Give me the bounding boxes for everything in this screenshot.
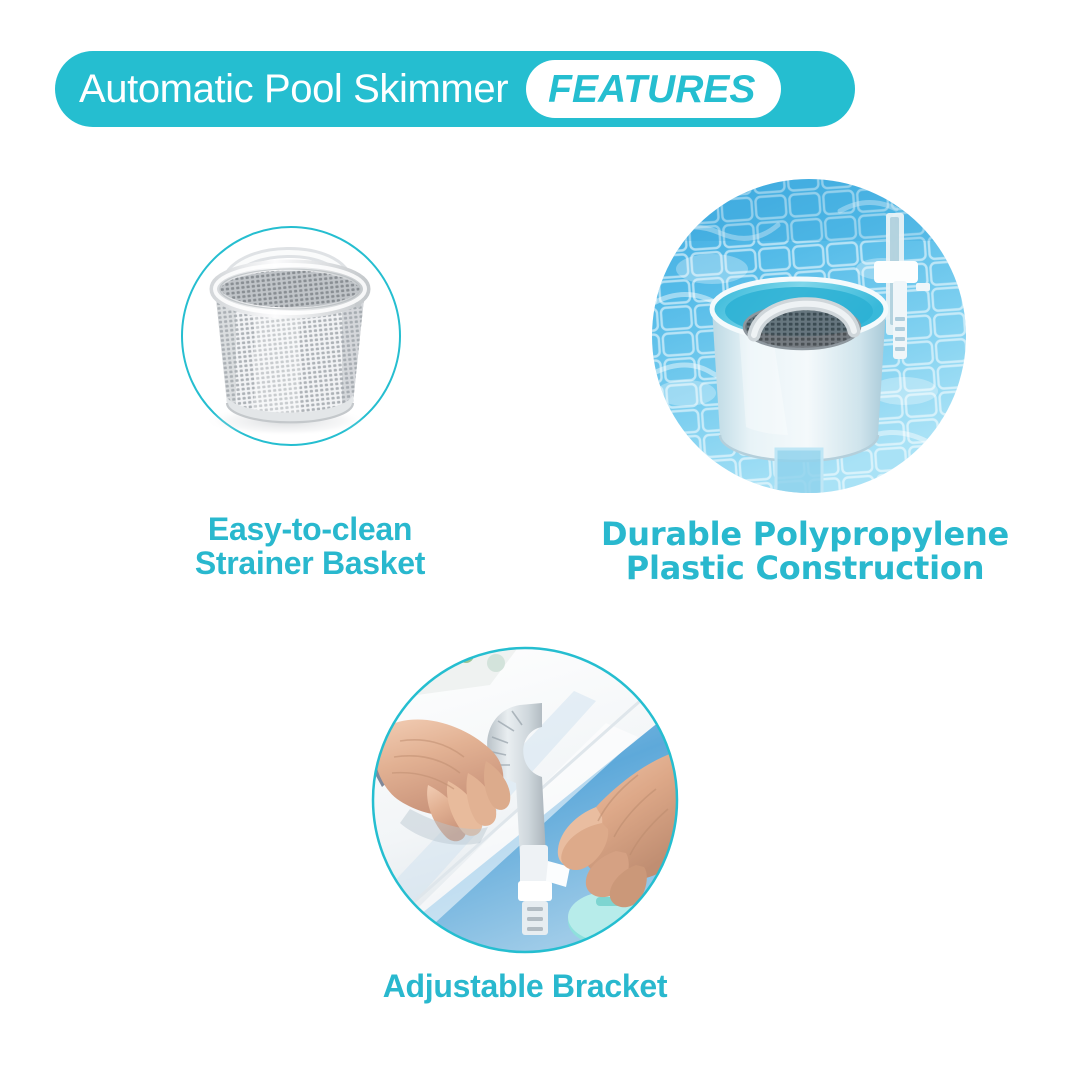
features-badge-label: FEATURES [548, 70, 755, 109]
feature-caption-polypropylene-construction: Durable Polypropylene Plastic Constructi… [575, 518, 1035, 586]
feature-caption-adjustable-bracket: Adjustable Bracket [300, 970, 750, 1004]
page-title: Automatic Pool Skimmer [79, 69, 508, 109]
feature-caption-strainer-basket: Easy-to-clean Strainer Basket [100, 513, 520, 581]
features-badge: FEATURES [526, 60, 781, 118]
header-banner: Automatic Pool Skimmer FEATURES [55, 51, 855, 127]
adjustable-bracket-photo [370, 645, 680, 955]
strainer-basket-image [182, 227, 398, 443]
pool-skimmer-photo [650, 177, 968, 495]
